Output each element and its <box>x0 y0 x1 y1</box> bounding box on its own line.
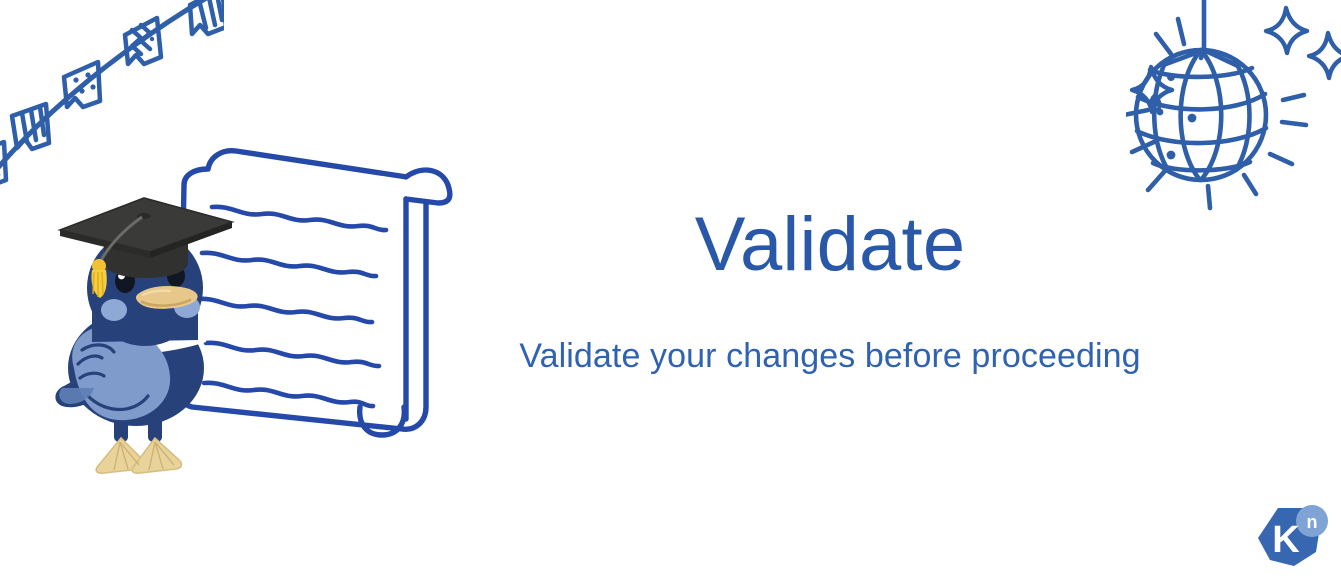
graduate-bird-mascot <box>52 190 242 475</box>
bird-head <box>87 230 203 346</box>
graduation-cap-icon <box>60 198 232 298</box>
bird-legs <box>114 408 162 442</box>
scroll-document-icon <box>170 135 470 465</box>
bird-cheek-left <box>101 299 127 321</box>
logo-letter-k: K <box>1272 519 1300 561</box>
logo-badge-shape <box>1258 508 1320 566</box>
bird-eyes <box>115 265 185 293</box>
page-title: Validate <box>470 205 1190 285</box>
slide-canvas: Validate Validate your changes before pr… <box>0 0 1341 585</box>
bird-body <box>68 310 204 426</box>
bird-collar <box>80 326 206 362</box>
kn-brand-logo: K n <box>1246 500 1332 580</box>
logo-bubble-shape <box>1296 505 1328 537</box>
bird-feet <box>96 438 181 473</box>
bird-beak <box>136 286 198 309</box>
slide-text-block: Validate Validate your changes before pr… <box>470 205 1190 376</box>
disco-ball-icon <box>1126 0 1341 230</box>
bird-wing <box>72 326 170 420</box>
bird-wing-feathers <box>78 345 148 410</box>
bird-tail <box>55 376 100 407</box>
page-subtitle: Validate your changes before proceeding <box>470 337 1190 376</box>
logo-letter-n: n <box>1307 512 1318 532</box>
bird-cheek-right <box>174 296 200 318</box>
party-bunting-icon <box>0 0 224 194</box>
